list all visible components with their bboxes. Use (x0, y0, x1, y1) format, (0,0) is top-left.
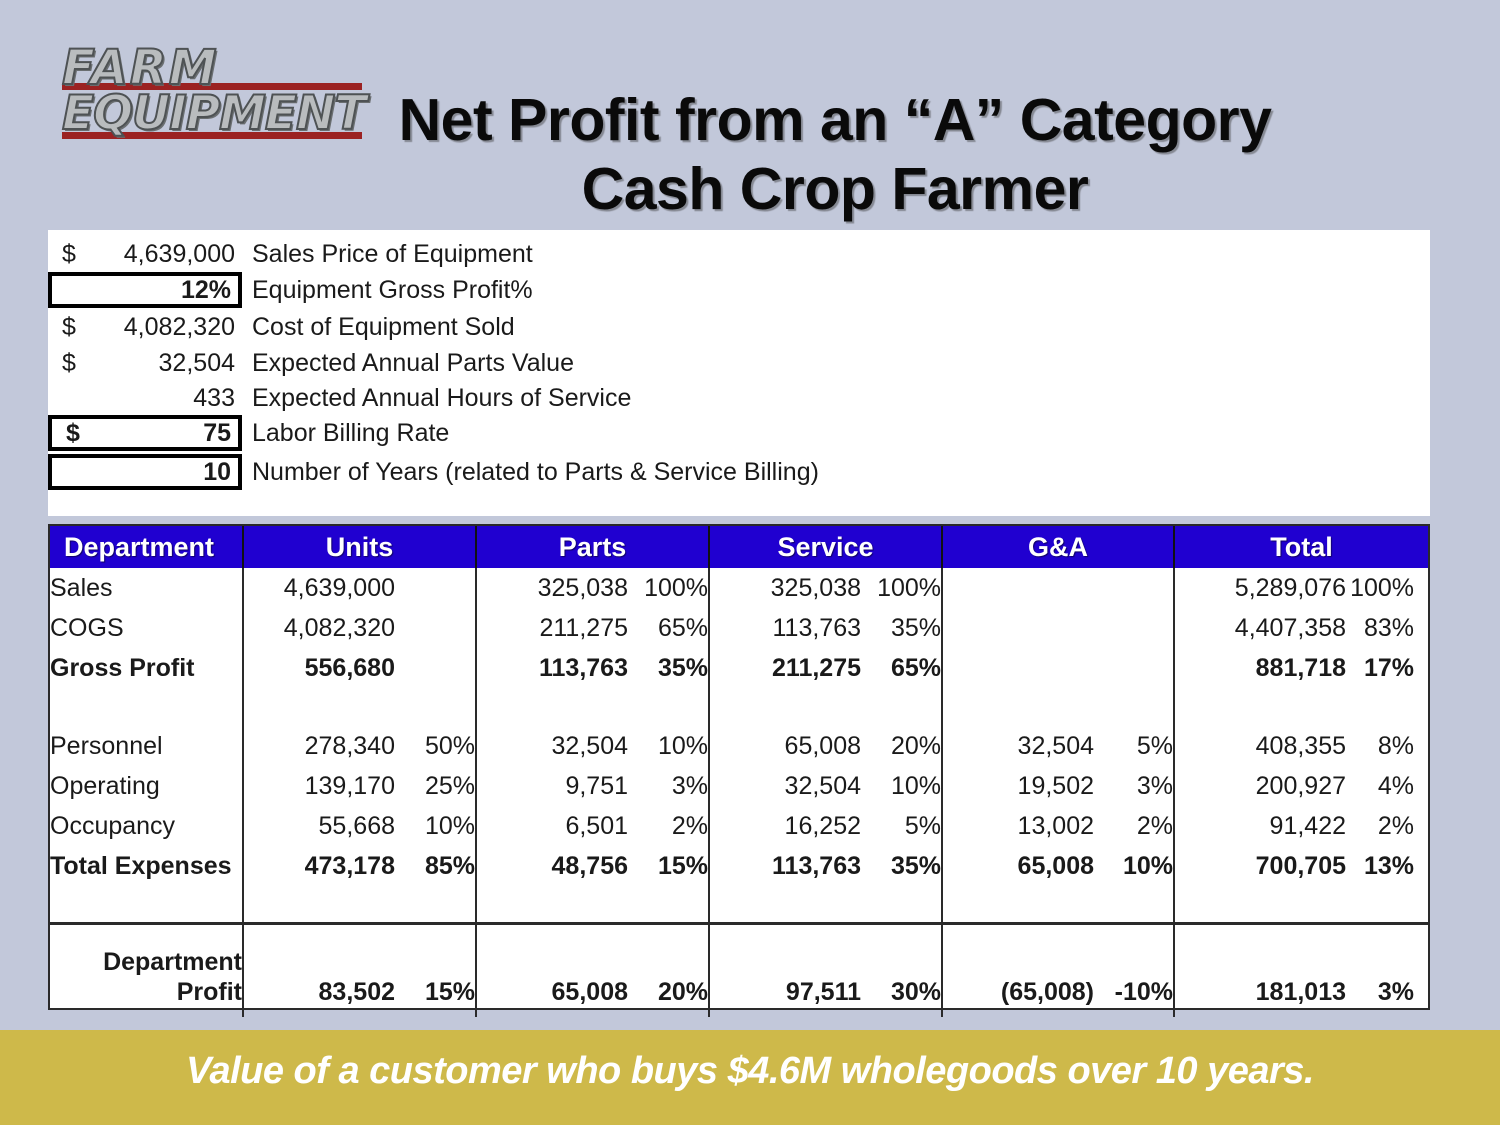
assumption-row: $ 75 Labor Billing Rate (48, 415, 1430, 451)
department-profit-label-line1: Department (50, 948, 242, 978)
cell-units-pct (395, 608, 476, 648)
cell-service-value: 325,038 (709, 568, 861, 608)
cell-service-pct: 65% (861, 648, 942, 688)
assumption-row: 433 Expected Annual Hours of Service (48, 380, 1430, 416)
cell-units-pct: 85% (395, 846, 476, 886)
spacer-cell (861, 688, 942, 726)
row-label: Gross Profit (50, 648, 243, 688)
spacer-cell (243, 886, 395, 924)
cell-service-pct: 35% (861, 608, 942, 648)
cell-units-pct: 10% (395, 806, 476, 846)
assumption-label: Labor Billing Rate (242, 419, 449, 448)
cell-ga-pct: -10% (1094, 924, 1174, 1018)
column-header-department[interactable]: Department (50, 526, 243, 568)
cell-service-value: 65,008 (709, 726, 861, 766)
table-row: Sales 4,639,000 325,038 100% 325,038 100… (50, 568, 1428, 608)
cell-units-value: 4,639,000 (243, 568, 395, 608)
spacer-cell (476, 688, 628, 726)
spacer-cell (50, 886, 243, 924)
cell-total-value: 200,927 (1174, 766, 1346, 806)
currency-symbol: $ (66, 419, 80, 448)
cell-parts-value: 211,275 (476, 608, 628, 648)
assumption-value: 75 (80, 419, 231, 448)
cell-ga-value: 13,002 (942, 806, 1094, 846)
cell-ga-value: 65,008 (942, 846, 1094, 886)
page-title-line2: Cash Crop Farmer (370, 155, 1300, 224)
row-label: Occupancy (50, 806, 243, 846)
cell-ga-pct (1094, 568, 1174, 608)
assumption-input-gross-profit-pct[interactable]: 12% (48, 272, 242, 308)
assumption-input-labor-billing-rate[interactable]: $ 75 (48, 415, 242, 451)
spacer-cell (1094, 886, 1174, 924)
cell-ga-value: 32,504 (942, 726, 1094, 766)
cell-total-value: 181,013 (1174, 924, 1346, 1018)
row-label: Operating (50, 766, 243, 806)
cell-service-pct: 20% (861, 726, 942, 766)
cell-parts-pct: 3% (628, 766, 709, 806)
assumption-value-cell: $ 4,639,000 (48, 236, 242, 272)
cell-parts-value: 9,751 (476, 766, 628, 806)
cell-total-pct: 17% (1346, 648, 1428, 688)
cell-ga-pct: 3% (1094, 766, 1174, 806)
cell-ga-pct (1094, 608, 1174, 648)
spacer-cell (1174, 688, 1346, 726)
assumption-value: 433 (62, 384, 235, 413)
cell-total-pct: 3% (1346, 924, 1428, 1018)
cell-ga-value (942, 608, 1094, 648)
cell-service-pct: 30% (861, 924, 942, 1018)
assumption-label: Expected Annual Hours of Service (242, 384, 631, 413)
cell-parts-value: 48,756 (476, 846, 628, 886)
cell-ga-pct: 10% (1094, 846, 1174, 886)
assumption-value: 4,082,320 (76, 313, 235, 342)
cell-parts-value: 32,504 (476, 726, 628, 766)
cell-service-value: 32,504 (709, 766, 861, 806)
spacer-cell (1346, 688, 1428, 726)
cell-total-pct: 2% (1346, 806, 1428, 846)
row-label-department-profit: Department Profit (50, 924, 243, 1018)
table-footer-row-department-profit: Department Profit 83,502 15% 65,008 20% … (50, 924, 1428, 1018)
assumption-value-cell: $ 32,504 (48, 345, 242, 381)
assumption-row: $ 4,639,000 Sales Price of Equipment (48, 236, 1430, 272)
table-row: Personnel 278,340 50% 32,504 10% 65,008 … (50, 726, 1428, 766)
spacer-cell (1094, 688, 1174, 726)
cell-ga-value: (65,008) (942, 924, 1094, 1018)
spacer-cell (243, 688, 395, 726)
caption-text: Value of a customer who buys $4.6M whole… (0, 1050, 1500, 1093)
row-label: Total Expenses (50, 846, 243, 886)
assumption-value-cell: 433 (48, 380, 242, 416)
row-label: Sales (50, 568, 243, 608)
spacer-cell (942, 886, 1094, 924)
cell-service-pct: 100% (861, 568, 942, 608)
assumption-label: Expected Annual Parts Value (242, 349, 574, 378)
row-label: Personnel (50, 726, 243, 766)
cell-units-value: 556,680 (243, 648, 395, 688)
cell-service-pct: 10% (861, 766, 942, 806)
cell-parts-value: 325,038 (476, 568, 628, 608)
assumption-value: 12% (66, 276, 231, 305)
cell-ga-value: 19,502 (942, 766, 1094, 806)
spacer-cell (476, 886, 628, 924)
cell-service-value: 113,763 (709, 608, 861, 648)
cell-service-pct: 5% (861, 806, 942, 846)
cell-total-value: 91,422 (1174, 806, 1346, 846)
cell-total-value: 4,407,358 (1174, 608, 1346, 648)
cell-units-pct (395, 648, 476, 688)
cell-total-pct: 4% (1346, 766, 1428, 806)
cell-parts-pct: 15% (628, 846, 709, 886)
column-header-units[interactable]: Units (243, 526, 476, 568)
column-header-service[interactable]: Service (709, 526, 942, 568)
assumption-label: Cost of Equipment Sold (242, 313, 515, 342)
cell-units-value: 278,340 (243, 726, 395, 766)
spacer-cell (1346, 886, 1428, 924)
cell-service-pct: 35% (861, 846, 942, 886)
spacer-cell (942, 688, 1094, 726)
cell-units-pct: 25% (395, 766, 476, 806)
cell-parts-value: 6,501 (476, 806, 628, 846)
currency-symbol: $ (62, 349, 76, 378)
cell-parts-value: 113,763 (476, 648, 628, 688)
assumption-input-number-of-years[interactable]: 10 (48, 454, 242, 490)
cell-total-value: 5,289,076 (1174, 568, 1346, 608)
row-label: COGS (50, 608, 243, 648)
cell-service-value: 97,511 (709, 924, 861, 1018)
column-header-parts[interactable]: Parts (476, 526, 709, 568)
cell-service-value: 211,275 (709, 648, 861, 688)
spacer-cell (709, 688, 861, 726)
cell-total-pct: 83% (1346, 608, 1428, 648)
cell-parts-pct: 35% (628, 648, 709, 688)
cell-total-value: 700,705 (1174, 846, 1346, 886)
assumption-value: 4,639,000 (76, 240, 235, 269)
assumption-label: Equipment Gross Profit% (242, 276, 533, 305)
farm-equipment-logo: FARM EQUIPMENT (62, 44, 362, 149)
department-profit-table: Department Units Parts Service G&A Total… (48, 524, 1430, 1010)
table-row: Total Expenses 473,178 85% 48,756 15% 11… (50, 846, 1428, 886)
cell-units-pct (395, 568, 476, 608)
cell-total-pct: 8% (1346, 726, 1428, 766)
logo-word-equipment: EQUIPMENT (62, 90, 362, 137)
cell-total-value: 408,355 (1174, 726, 1346, 766)
spacer-cell (395, 886, 476, 924)
spacer-cell (628, 688, 709, 726)
cell-units-pct: 15% (395, 924, 476, 1018)
spacer-cell (628, 886, 709, 924)
assumption-value: 10 (66, 458, 231, 487)
table-row: Gross Profit 556,680 113,763 35% 211,275… (50, 648, 1428, 688)
assumption-row: $ 32,504 Expected Annual Parts Value (48, 345, 1430, 381)
page-title-line1: Net Profit from an “A” Category (370, 86, 1300, 155)
column-header-ga[interactable]: G&A (942, 526, 1174, 568)
cell-units-value: 4,082,320 (243, 608, 395, 648)
spacer-cell (50, 688, 243, 726)
table-spacer-row (50, 688, 1428, 726)
cell-ga-pct: 5% (1094, 726, 1174, 766)
cell-units-value: 473,178 (243, 846, 395, 886)
cell-parts-pct: 2% (628, 806, 709, 846)
cell-parts-value: 65,008 (476, 924, 628, 1018)
slide-header: FARM EQUIPMENT Net Profit from an “A” Ca… (0, 0, 1500, 228)
page-title: Net Profit from an “A” Category Cash Cro… (370, 86, 1300, 224)
cell-units-value: 83,502 (243, 924, 395, 1018)
cell-units-pct: 50% (395, 726, 476, 766)
column-header-total[interactable]: Total (1174, 526, 1428, 568)
assumption-row: 10 Number of Years (related to Parts & S… (48, 454, 1430, 490)
spacer-cell (709, 886, 861, 924)
department-profit-label-line2: Profit (50, 978, 242, 1008)
cell-total-pct: 13% (1346, 846, 1428, 886)
assumptions-panel: $ 4,639,000 Sales Price of Equipment 12%… (48, 230, 1430, 516)
assumption-label: Sales Price of Equipment (242, 240, 533, 269)
assumption-row: 12% Equipment Gross Profit% (48, 272, 1430, 308)
assumption-value-cell: $ 4,082,320 (48, 309, 242, 345)
table-row: Operating 139,170 25% 9,751 3% 32,504 10… (50, 766, 1428, 806)
cell-ga-value (942, 568, 1094, 608)
assumption-value: 32,504 (76, 349, 235, 378)
assumption-label: Number of Years (related to Parts & Serv… (242, 458, 819, 487)
currency-symbol: $ (62, 240, 76, 269)
caption-bar: Value of a customer who buys $4.6M whole… (0, 1030, 1500, 1125)
cell-total-value: 881,718 (1174, 648, 1346, 688)
cell-parts-pct: 10% (628, 726, 709, 766)
cell-ga-value (942, 648, 1094, 688)
cell-service-value: 16,252 (709, 806, 861, 846)
spacer-cell (1174, 886, 1346, 924)
cell-total-pct: 100% (1346, 568, 1428, 608)
cell-service-value: 113,763 (709, 846, 861, 886)
table-row: COGS 4,082,320 211,275 65% 113,763 35% 4… (50, 608, 1428, 648)
spacer-cell (861, 886, 942, 924)
currency-symbol: $ (62, 313, 76, 342)
cell-parts-pct: 65% (628, 608, 709, 648)
cell-ga-pct: 2% (1094, 806, 1174, 846)
logo-word-farm: FARM (62, 44, 362, 92)
cell-ga-pct (1094, 648, 1174, 688)
spacer-cell (395, 688, 476, 726)
cell-parts-pct: 100% (628, 568, 709, 608)
assumption-row: $ 4,082,320 Cost of Equipment Sold (48, 309, 1430, 345)
table-spacer-row (50, 886, 1428, 924)
cell-parts-pct: 20% (628, 924, 709, 1018)
cell-units-value: 139,170 (243, 766, 395, 806)
table-header-row: Department Units Parts Service G&A Total (50, 526, 1428, 568)
table-row: Occupancy 55,668 10% 6,501 2% 16,252 5% … (50, 806, 1428, 846)
cell-units-value: 55,668 (243, 806, 395, 846)
